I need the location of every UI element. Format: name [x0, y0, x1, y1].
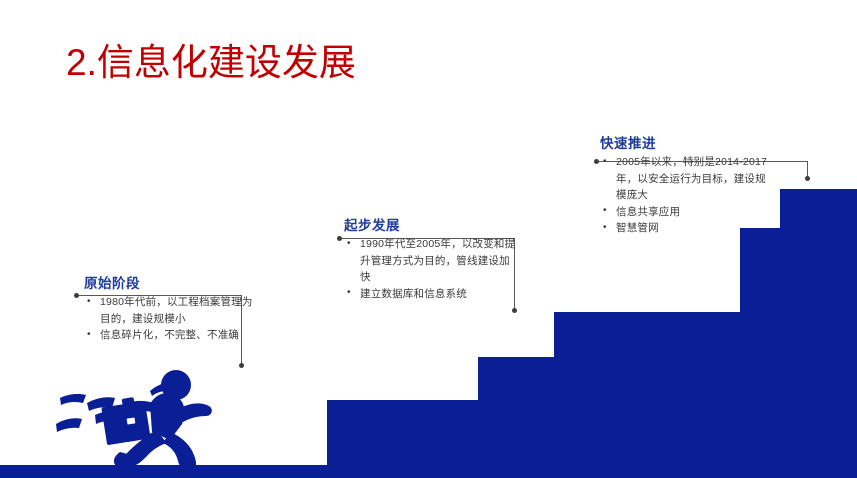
connector-dot-start-3 — [594, 159, 599, 164]
list-item: 1990年代至2005年，以改变和提升管理方式为目的，管线建设加快 — [344, 236, 520, 286]
stage-heading-3: 快速推进 — [600, 132, 776, 152]
connector-dot-end-3 — [805, 176, 810, 181]
connector-dot-start-1 — [74, 293, 79, 298]
stage-block-1: 原始阶段 1980年代前，以工程档案管理为目的，建设规模小 信息碎片化，不完整、… — [84, 272, 256, 344]
paper-1 — [60, 394, 86, 405]
stage-bullet-list-2: 1990年代至2005年，以改变和提升管理方式为目的，管线建设加快 建立数据库和… — [344, 236, 520, 302]
page-title: 2.信息化建设发展 — [66, 42, 356, 85]
connector-dot-end-2 — [512, 308, 517, 313]
paper-4 — [95, 411, 121, 424]
list-item: 1980年代前，以工程档案管理为目的，建设规模小 — [84, 294, 256, 327]
paper-3 — [56, 418, 82, 432]
stage-block-2: 起步发展 1990年代至2005年，以改变和提升管理方式为目的，管线建设加快 建… — [344, 214, 520, 302]
stage-bullet-list-1: 1980年代前，以工程档案管理为目的，建设规模小 信息碎片化，不完整、不准确 — [84, 294, 256, 344]
running-businessman-icon — [56, 370, 212, 473]
list-item: 2005年以来，特别是2014-2017年，以安全运行为目标，建设规模庞大 — [600, 154, 776, 204]
slide-canvas: 2.信息化建设发展 — [0, 0, 857, 478]
connector-dot-start-2 — [337, 236, 342, 241]
connector-dot-end-1 — [239, 363, 244, 368]
stage-heading-2: 起步发展 — [344, 214, 520, 234]
list-item: 信息共享应用 — [600, 204, 776, 221]
stage-heading-1: 原始阶段 — [84, 272, 256, 292]
connector-vertical-3 — [807, 161, 808, 178]
bottom-accent-bar — [0, 465, 857, 478]
paper-2 — [87, 397, 115, 411]
stage-bullet-list-3: 2005年以来，特别是2014-2017年，以安全运行为目标，建设规模庞大 信息… — [600, 154, 776, 237]
stage-block-3: 快速推进 2005年以来，特别是2014-2017年，以安全运行为目标，建设规模… — [600, 132, 776, 237]
list-item: 建立数据库和信息系统 — [344, 286, 520, 303]
list-item: 智慧管网 — [600, 220, 776, 237]
list-item: 信息碎片化，不完整、不准确 — [84, 327, 256, 344]
